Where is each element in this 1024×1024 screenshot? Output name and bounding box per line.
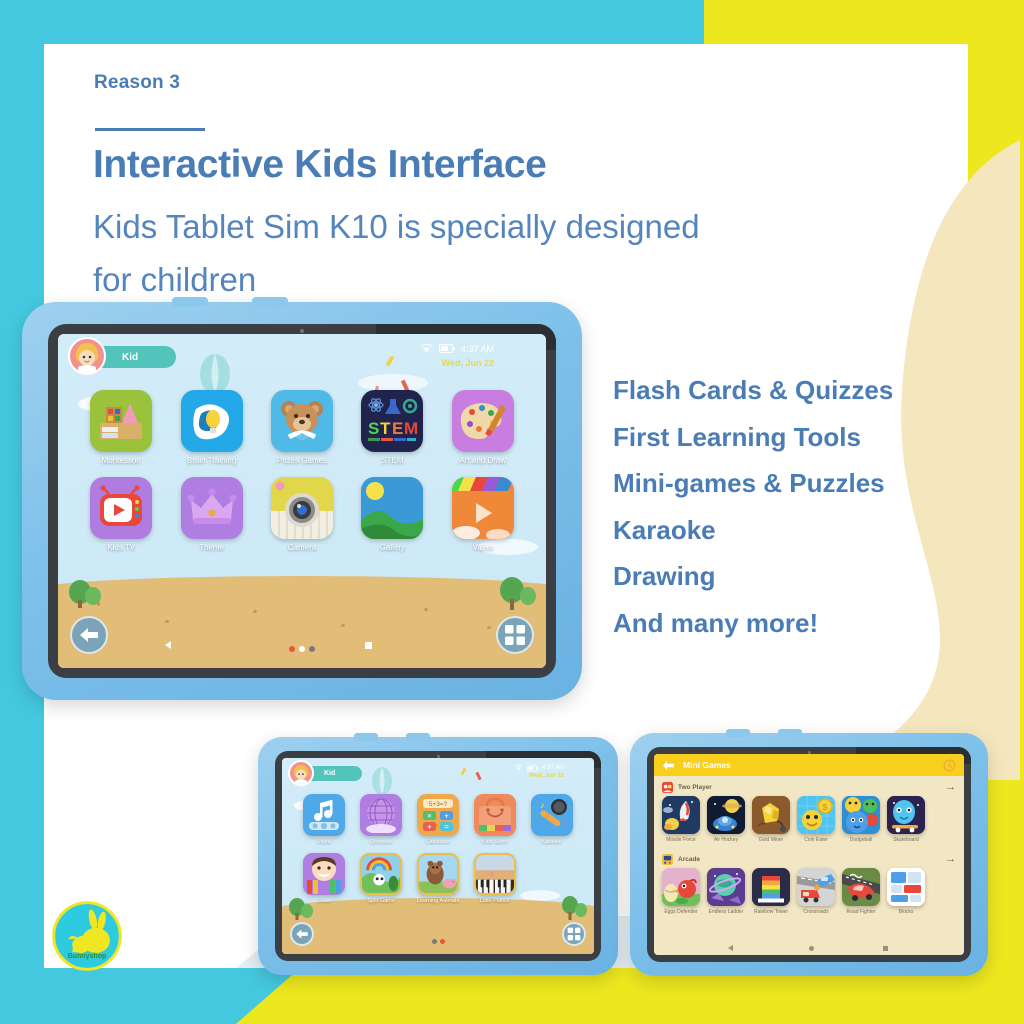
- app-montessori[interactable]: Montessori: [76, 390, 166, 465]
- game-label: Blocks: [899, 909, 914, 915]
- app-brain-training[interactable]: Brain Training: [166, 390, 256, 465]
- palette-icon: [452, 390, 514, 452]
- android-back-icon[interactable]: [165, 641, 171, 649]
- app-label: Video: [473, 543, 493, 552]
- game-crossroads[interactable]: Crossroads: [797, 868, 835, 915]
- svg-text:M: M: [404, 419, 418, 438]
- app-little-pianist[interactable]: ♪ Little Pianist: [466, 853, 523, 904]
- feature-item: Karaoke: [613, 507, 893, 554]
- game-label: Eggs Defender: [664, 909, 697, 915]
- game-air-hockey[interactable]: Air Hockey: [707, 796, 745, 843]
- svg-text:♪: ♪: [540, 800, 545, 810]
- svg-text:♪: ♪: [490, 869, 494, 878]
- feature-item: Flash Cards & Quizzes: [613, 367, 893, 414]
- section-header-two-player: Two Player →: [662, 780, 956, 794]
- app-dinosaur[interactable]: Dinosaur: [353, 794, 410, 845]
- game-blocks[interactable]: Blocks: [887, 868, 925, 915]
- clock-label: 4:37 AM: [542, 765, 564, 771]
- game-row-arcade: Eggs Defender Endle: [662, 868, 925, 915]
- music-note-icon: [303, 794, 345, 836]
- divider-rule: [95, 128, 205, 131]
- date-label: Wed, Jun 22: [529, 773, 564, 779]
- app-spin-game[interactable]: Spin Game: [353, 853, 410, 904]
- arcade-icon: [662, 854, 673, 865]
- app-label: Learning Animals: [417, 898, 459, 904]
- wifi-icon: [420, 343, 433, 354]
- rocket-icon: [662, 796, 700, 834]
- avatar[interactable]: [68, 337, 106, 375]
- air-hockey-icon: [707, 796, 745, 834]
- app-video[interactable]: Video: [438, 477, 528, 552]
- app-learning-animals[interactable]: Learning Animals: [410, 853, 467, 904]
- blocks-icon: [887, 868, 925, 906]
- app-label: Art and Draw: [459, 456, 506, 465]
- app-label: STEM: [381, 456, 403, 465]
- game-endless-ladder[interactable]: Endless Ladder: [707, 868, 745, 915]
- clock-label: 4:37 AM: [461, 344, 494, 354]
- mini-games-header: Mini Games: [654, 754, 964, 776]
- feature-item: First Learning Tools: [613, 414, 893, 461]
- android-back-icon[interactable]: [728, 945, 733, 951]
- android-home-icon[interactable]: [809, 946, 814, 951]
- app-karaoke[interactable]: ♪ ♫ ♪ Karaoke: [523, 794, 580, 845]
- spin-game-icon: [360, 853, 402, 895]
- tv-play-icon: [90, 477, 152, 539]
- piano-icon: ♪: [474, 853, 516, 895]
- app-kids-tv[interactable]: Kids TV: [76, 477, 166, 552]
- app-label: Karaoke: [541, 839, 562, 845]
- section-title: Arcade: [678, 856, 700, 863]
- gold-nugget-icon: [752, 796, 790, 834]
- tablet-secondary-left: Kid: [258, 737, 618, 975]
- game-road-fighter[interactable]: Road Fighter: [842, 868, 880, 915]
- back-arrow-icon[interactable]: [662, 760, 675, 771]
- page-dot[interactable]: [432, 939, 437, 944]
- app-stem[interactable]: S T E M STEM: [347, 390, 437, 465]
- app-label: Little Pianist: [480, 898, 510, 904]
- power-button[interactable]: [252, 297, 288, 307]
- crown-icon: [181, 477, 243, 539]
- app-label: Music: [317, 839, 331, 845]
- mini-games-title: Mini Games: [683, 760, 731, 770]
- game-label: Rainbow Tower: [754, 909, 788, 915]
- volume-button[interactable]: [354, 733, 378, 741]
- skateboard-icon: [887, 796, 925, 834]
- svg-text:♪: ♪: [562, 819, 566, 828]
- brain-icon: [181, 390, 243, 452]
- wifi-icon: [514, 764, 523, 772]
- app-label: Calculator: [426, 839, 451, 845]
- profile-name-label: Kid: [324, 770, 335, 777]
- animals-icon: [417, 853, 459, 895]
- app-gallery[interactable]: Gallery: [347, 477, 437, 552]
- app-label: Prizes Games: [277, 456, 327, 465]
- svg-text:+: +: [444, 812, 449, 821]
- tablet-secondary-right: Mini Games T: [630, 733, 988, 976]
- volume-button[interactable]: [726, 729, 750, 737]
- app-label: Draw: [318, 898, 331, 904]
- rainbow-stack-icon: [752, 868, 790, 906]
- svg-text:S: S: [368, 419, 379, 438]
- svg-text:T: T: [380, 419, 391, 438]
- app-kids-store[interactable]: Kids Store: [466, 794, 523, 845]
- shopping-bag-icon: [474, 794, 516, 836]
- feature-item: Drawing: [613, 553, 893, 600]
- app-calculator[interactable]: 5+3=? × + + = Calculator: [410, 794, 467, 845]
- power-button[interactable]: [778, 729, 802, 737]
- status-right: 4:37 AM: [420, 343, 494, 354]
- page-dot-active[interactable]: [289, 646, 295, 652]
- crayons-icon: [303, 853, 345, 895]
- crossroads-icon: [797, 868, 835, 906]
- tablet-screen-left[interactable]: Kid: [282, 758, 594, 954]
- app-draw[interactable]: Draw: [296, 853, 353, 904]
- app-grid: Montessori Brain Training: [76, 390, 528, 552]
- svg-text:$: $: [823, 803, 828, 812]
- race-car-icon: [842, 868, 880, 906]
- clapperboard-icon: [452, 477, 514, 539]
- game-coin-eater[interactable]: $ Coin Eater: [797, 796, 835, 843]
- status-bar: Kid: [58, 334, 546, 376]
- game-label: Skateboard: [893, 837, 919, 843]
- game-label: Crossroads: [803, 909, 829, 915]
- game-label: Gold Miner: [759, 837, 783, 843]
- coin-icon: $: [797, 796, 835, 834]
- logo-wordmark: Bunnyshop: [68, 953, 107, 960]
- bunnyshop-logo: Bunnyshop: [50, 899, 124, 973]
- game-eggs-defender[interactable]: Eggs Defender: [662, 868, 700, 915]
- game-dodgeball[interactable]: Dodgeball: [842, 796, 880, 843]
- status-bar: Kid: [282, 758, 594, 786]
- app-music[interactable]: Music: [296, 794, 353, 845]
- volume-button[interactable]: [172, 297, 208, 307]
- feature-item: Mini-games & Puzzles: [613, 460, 893, 507]
- grid-icon: [504, 624, 526, 646]
- app-label: Kids Store: [482, 839, 507, 845]
- app-grid: Music: [296, 794, 580, 904]
- game-label: Dodgeball: [850, 837, 873, 843]
- app-camera[interactable]: Camera: [257, 477, 347, 552]
- date-label: Wed, Jun 22: [442, 358, 494, 368]
- landscape-icon: [361, 477, 423, 539]
- android-recents-icon[interactable]: [883, 946, 888, 951]
- svg-text:=: =: [444, 823, 449, 832]
- wallpaper-ground: [58, 590, 546, 668]
- feature-item: And many more!: [613, 600, 893, 647]
- planet-icon: [707, 868, 745, 906]
- app-label: Camera: [288, 543, 316, 552]
- page-title: Interactive Kids Interface: [93, 143, 546, 187]
- app-label: Montessori: [102, 456, 141, 465]
- calculator-icon: 5+3=? × + + =: [417, 794, 459, 836]
- app-label: Kids TV: [107, 543, 135, 552]
- app-art-and-draw[interactable]: Art and Draw: [438, 390, 528, 465]
- battery-icon: [527, 765, 538, 772]
- section-header-arcade: Arcade →: [662, 852, 956, 866]
- game-label: Endless Ladder: [709, 909, 744, 915]
- svg-text:♫: ♫: [544, 813, 549, 820]
- svg-text:+: +: [427, 823, 432, 832]
- game-missile-force[interactable]: Missile Force: [662, 796, 700, 843]
- status-right: 4:37 AM: [514, 764, 564, 772]
- game-skateboard[interactable]: Skateboard: [887, 796, 925, 843]
- app-theme[interactable]: Theme: [166, 477, 256, 552]
- section-title: Two Player: [678, 784, 712, 791]
- page-indicator: [58, 646, 546, 652]
- page-indicator: [282, 939, 594, 944]
- arrow-right-icon[interactable]: →: [945, 781, 956, 793]
- game-label: Air Hockey: [714, 837, 738, 843]
- app-label: Brain Training: [187, 456, 236, 465]
- app-prizes-games[interactable]: Prizes Games: [257, 390, 347, 465]
- game-rainbow-tower[interactable]: Rainbow Tower: [752, 868, 790, 915]
- power-button[interactable]: [406, 733, 430, 741]
- teddy-bear-icon: [271, 390, 333, 452]
- avatar[interactable]: [288, 760, 314, 786]
- page-dot[interactable]: [309, 646, 315, 652]
- back-arrow-icon: [78, 626, 100, 644]
- game-label: Road Fighter: [847, 909, 876, 915]
- camera-icon: [271, 477, 333, 539]
- app-label: Spin Game: [367, 898, 395, 904]
- two-player-icon: [662, 782, 673, 793]
- android-recents-icon[interactable]: [365, 642, 372, 649]
- game-label: Coin Eater: [804, 837, 828, 843]
- eyebrow-label: Reason 3: [94, 72, 180, 94]
- page-subtitle: Kids Tablet Sim K10 is specially designe…: [93, 200, 733, 307]
- feature-list: Flash Cards & Quizzes First Learning Too…: [613, 367, 893, 646]
- wallpaper-ground: [282, 912, 594, 954]
- bird-egg-icon: [662, 868, 700, 906]
- globe-icon: [360, 794, 402, 836]
- front-camera-icon: [300, 329, 304, 333]
- battery-icon: [439, 344, 455, 353]
- arrow-right-icon[interactable]: →: [945, 853, 956, 865]
- tree-decoration: [68, 568, 102, 608]
- profile-name-label: Kid: [122, 352, 138, 363]
- dodgeball-icon: [842, 796, 880, 834]
- history-clock-icon[interactable]: [943, 759, 956, 772]
- page-dot-active[interactable]: [440, 939, 445, 944]
- tree-decoration: [498, 566, 538, 610]
- tablet-screen-main[interactable]: Kid: [58, 334, 546, 668]
- svg-text:×: ×: [427, 812, 432, 821]
- tablet-main: Kid: [22, 302, 582, 700]
- svg-text:E: E: [392, 419, 403, 438]
- game-gold-miner[interactable]: Gold Miner: [752, 796, 790, 843]
- app-label: Theme: [199, 543, 224, 552]
- montessori-icon: [90, 390, 152, 452]
- app-label: Gallery: [380, 543, 405, 552]
- game-row-two-player: Missile Force: [662, 796, 925, 843]
- app-label: Dinosaur: [370, 839, 392, 845]
- game-label: Missile Force: [666, 837, 695, 843]
- svg-text:5+3=?: 5+3=?: [429, 801, 448, 808]
- microphone-icon: ♪ ♫ ♪: [531, 794, 573, 836]
- tablet-screen-right[interactable]: Mini Games T: [654, 754, 964, 955]
- page-dot[interactable]: [299, 646, 305, 652]
- stem-icon: S T E M: [361, 390, 423, 452]
